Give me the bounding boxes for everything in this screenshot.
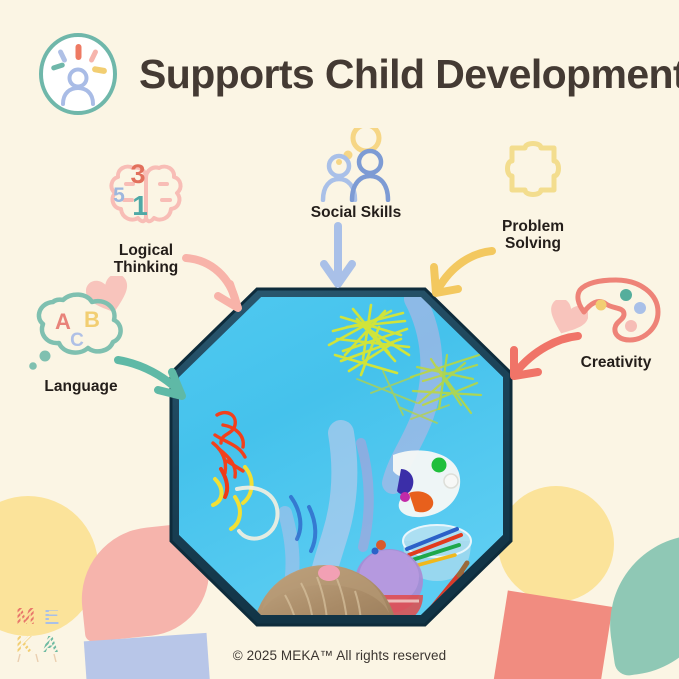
feature-problem-solving: Problem Solving [464, 140, 602, 253]
svg-text:A: A [55, 309, 71, 334]
feature-social-skills: Social Skills [280, 128, 432, 221]
arrow-logical-thinking-to-tray [178, 250, 250, 322]
brain-numbers-icon: 3 5 1 [100, 160, 192, 238]
arrow-problem-solving-to-tray [428, 245, 500, 307]
svg-text:5: 5 [113, 184, 125, 207]
svg-text:B: B [84, 307, 100, 332]
page-title: Supports Child Development [139, 54, 679, 95]
child-painting-on-blue-tuff-tray-photo [165, 283, 517, 679]
logo-letter-m: M [16, 603, 35, 629]
svg-text:3: 3 [130, 160, 145, 189]
logo-letter-e: E [44, 603, 59, 629]
child-idea-badge-icon [37, 31, 119, 117]
arrow-language-to-tray [112, 350, 196, 406]
infographic-canvas: Supports Child Development [0, 0, 679, 679]
feature-label-social-skills: Social Skills [280, 204, 432, 221]
arrow-creativity-to-tray [508, 330, 584, 390]
header: Supports Child Development [0, 26, 679, 122]
two-people-icon [304, 128, 408, 202]
svg-text:C: C [70, 330, 84, 351]
arrow-social-skills-to-tray [318, 222, 358, 294]
puzzle-piece-icon [494, 140, 572, 216]
copyright-text: © 2025 MEKA™ All rights reserved [0, 648, 679, 663]
svg-text:1: 1 [132, 190, 148, 221]
